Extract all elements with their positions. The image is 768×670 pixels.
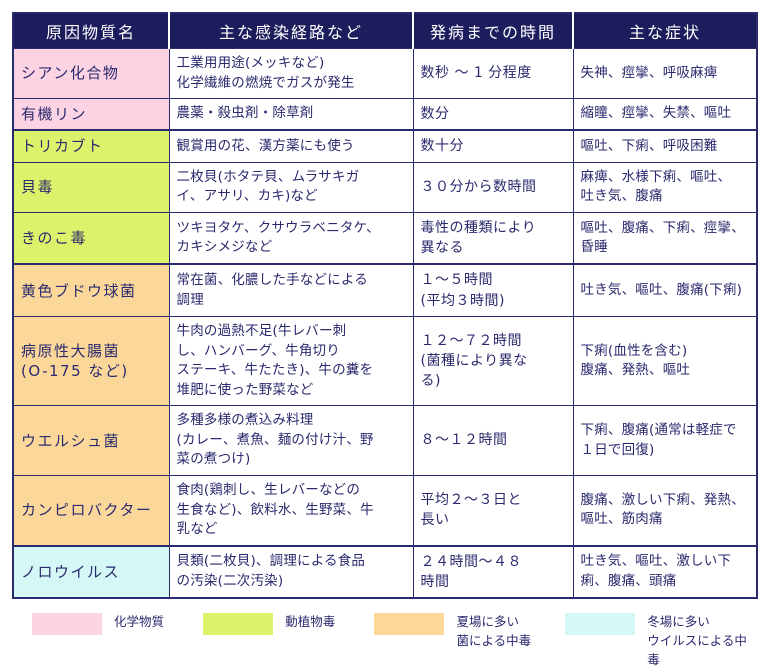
- cell-symptoms: 腹痛、激しい下痢、発熱、 嘔吐、筋肉痛: [573, 475, 757, 545]
- cell-onset-time: １～５時間 (平均３時間): [413, 264, 573, 316]
- legend-color-swatch: [565, 613, 635, 635]
- cell-agent-name: カンピロバクター: [13, 475, 169, 545]
- table-row: シアン化合物工業用用途(メッキなど) 化学繊維の燃焼でガスが発生数秒 ～ 1 分…: [13, 49, 757, 99]
- table-body: シアン化合物工業用用途(メッキなど) 化学繊維の燃焼でガスが発生数秒 ～ 1 分…: [13, 49, 757, 599]
- table-row: トリカブト観賞用の花、漢方薬にも使う数十分嘔吐、下痢、呼吸困難: [13, 130, 757, 162]
- cell-transmission-route: 観賞用の花、漢方薬にも使う: [169, 130, 413, 162]
- cell-onset-time: ３０分から数時間: [413, 162, 573, 212]
- cell-agent-name: ウエルシュ菌: [13, 406, 169, 476]
- legend-color-swatch: [374, 613, 444, 635]
- cell-symptoms: 失神、痙攣、呼吸麻痺: [573, 49, 757, 99]
- table-row: 有機リン農薬・殺虫剤・除草剤数分縮瞳、痙攣、失禁、嘔吐: [13, 99, 757, 131]
- table-row: ウエルシュ菌多種多様の煮込み料理 (カレー、煮魚、麺の付け汁、野 菜の煮つけ)８…: [13, 406, 757, 476]
- food-poisoning-table: 原因物質名 主な感染経路など 発病までの時間 主な症状 シアン化合物工業用用途(…: [12, 12, 758, 599]
- cell-symptoms: 吐き気、嘔吐、激しい下 痢、腹痛、頭痛: [573, 546, 757, 599]
- legend-item: 動植物毒: [203, 613, 374, 635]
- table-row: ノロウイルス貝類(二枚貝)、調理による食品 の汚染(二次汚染)２４時間～４８ 時…: [13, 546, 757, 599]
- cell-agent-name: 貝毒: [13, 162, 169, 212]
- table-row: 貝毒二枚貝(ホタテ貝、ムラサキガ イ、アサリ、カキ)など３０分から数時間麻痺、水…: [13, 162, 757, 212]
- cell-symptoms: 下痢(血性を含む) 腹痛、発熱、嘔吐: [573, 317, 757, 406]
- column-header-route: 主な感染経路など: [169, 13, 413, 49]
- table-header-row: 原因物質名 主な感染経路など 発病までの時間 主な症状: [13, 13, 757, 49]
- cell-transmission-route: 貝類(二枚貝)、調理による食品 の汚染(二次汚染): [169, 546, 413, 599]
- cell-onset-time: １２～７２時間 (菌種により異な る): [413, 317, 573, 406]
- cell-transmission-route: 牛肉の過熱不足(牛レバー刺 し、ハンバーグ、牛角切り ステーキ、牛たたき)、牛の…: [169, 317, 413, 406]
- table-header: 原因物質名 主な感染経路など 発病までの時間 主な症状: [13, 13, 757, 49]
- cell-onset-time: ８～１２時間: [413, 406, 573, 476]
- legend-label: 動植物毒: [285, 613, 335, 632]
- cell-agent-name: 有機リン: [13, 99, 169, 131]
- cell-symptoms: 麻痺、水様下痢、嘔吐、 吐き気、腹痛: [573, 162, 757, 212]
- cell-symptoms: 吐き気、嘔吐、腹痛(下痢): [573, 264, 757, 316]
- cell-onset-time: 数秒 ～ 1 分程度: [413, 49, 573, 99]
- cell-onset-time: 数十分: [413, 130, 573, 162]
- cell-symptoms: 嘔吐、腹痛、下痢、痙攣、 昏睡: [573, 212, 757, 264]
- legend-label: 夏場に多い 菌による中毒: [456, 613, 531, 651]
- cell-transmission-route: 多種多様の煮込み料理 (カレー、煮魚、麺の付け汁、野 菜の煮つけ): [169, 406, 413, 476]
- cell-transmission-route: 工業用用途(メッキなど) 化学繊維の燃焼でガスが発生: [169, 49, 413, 99]
- cell-agent-name: シアン化合物: [13, 49, 169, 99]
- cell-onset-time: ２４時間～４８ 時間: [413, 546, 573, 599]
- cell-onset-time: 毒性の種類により 異なる: [413, 212, 573, 264]
- legend-label: 冬場に多い ウイルスによる中毒: [647, 613, 756, 669]
- legend-item: 冬場に多い ウイルスによる中毒: [565, 613, 756, 669]
- cell-agent-name: トリカブト: [13, 130, 169, 162]
- legend-color-swatch: [203, 613, 273, 635]
- cell-symptoms: 嘔吐、下痢、呼吸困難: [573, 130, 757, 162]
- poisoning-reference-page: 原因物質名 主な感染経路など 発病までの時間 主な症状 シアン化合物工業用用途(…: [0, 0, 768, 630]
- legend-item: 化学物質: [32, 613, 203, 635]
- cell-transmission-route: 二枚貝(ホタテ貝、ムラサキガ イ、アサリ、カキ)など: [169, 162, 413, 212]
- cell-onset-time: 数分: [413, 99, 573, 131]
- cell-transmission-route: 農薬・殺虫剤・除草剤: [169, 99, 413, 131]
- legend-item: 夏場に多い 菌による中毒: [374, 613, 565, 651]
- table-row: 黄色ブドウ球菌常在菌、化膿した手などによる 調理１～５時間 (平均３時間)吐き気…: [13, 264, 757, 316]
- cell-agent-name: 病原性大腸菌 (O-175 など): [13, 317, 169, 406]
- cell-transmission-route: ツキヨタケ、クサウラベニタケ、 カキシメジなど: [169, 212, 413, 264]
- table-row: カンピロバクター食肉(鶏刺し、生レバーなどの 生食など)、飲料水、生野菜、牛 乳…: [13, 475, 757, 545]
- cell-symptoms: 下痢、腹痛(通常は軽症で １日で回復): [573, 406, 757, 476]
- column-header-onset: 発病までの時間: [413, 13, 573, 49]
- column-header-agent: 原因物質名: [13, 13, 169, 49]
- table-row: きのこ毒ツキヨタケ、クサウラベニタケ、 カキシメジなど毒性の種類により 異なる嘔…: [13, 212, 757, 264]
- legend: 化学物質動植物毒夏場に多い 菌による中毒冬場に多い ウイルスによる中毒: [12, 613, 756, 669]
- cell-agent-name: 黄色ブドウ球菌: [13, 264, 169, 316]
- cell-onset-time: 平均２～３日と 長い: [413, 475, 573, 545]
- legend-color-swatch: [32, 613, 102, 635]
- cell-transmission-route: 常在菌、化膿した手などによる 調理: [169, 264, 413, 316]
- cell-agent-name: ノロウイルス: [13, 546, 169, 599]
- cell-transmission-route: 食肉(鶏刺し、生レバーなどの 生食など)、飲料水、生野菜、牛 乳など: [169, 475, 413, 545]
- cell-symptoms: 縮瞳、痙攣、失禁、嘔吐: [573, 99, 757, 131]
- cell-agent-name: きのこ毒: [13, 212, 169, 264]
- table-row: 病原性大腸菌 (O-175 など)牛肉の過熱不足(牛レバー刺 し、ハンバーグ、牛…: [13, 317, 757, 406]
- column-header-symptoms: 主な症状: [573, 13, 757, 49]
- legend-label: 化学物質: [114, 613, 164, 632]
